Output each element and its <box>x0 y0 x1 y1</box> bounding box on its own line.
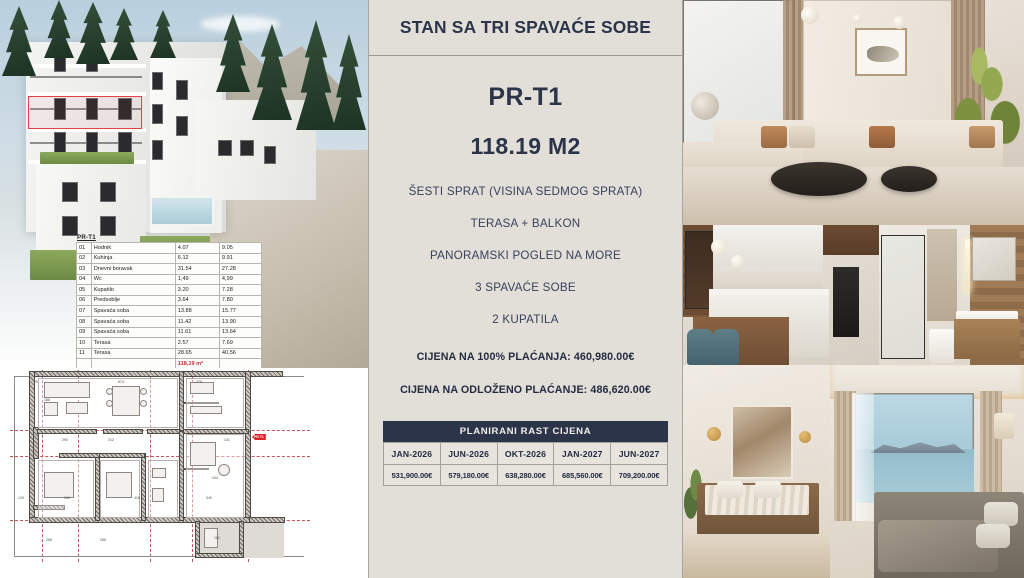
info-panel: STAN SA TRI SPAVAĆE SOBE PR-T1 118.19 M2… <box>368 0 683 578</box>
schedule-cell: 4.07 <box>175 243 219 254</box>
wall <box>196 554 243 557</box>
schedule-cell: 7.69 <box>219 338 261 349</box>
dimension-label: 110 <box>214 536 220 540</box>
table-row: 08Spavaća soba11.4213.90 <box>77 317 262 328</box>
schedule-cell: 10 <box>77 338 92 349</box>
wall <box>30 372 282 376</box>
schedule-cell: Spavaća soba <box>91 327 175 338</box>
table-row: JAN-2026JUN-2026OKT-2026JAN-2027JUN-2027 <box>384 443 668 465</box>
window <box>54 132 66 154</box>
furniture-armchair <box>44 402 58 416</box>
shower-enclosure <box>881 235 925 359</box>
growth-column-header: OKT-2026 <box>497 443 554 465</box>
growth-value-cell: 709,200.00€ <box>611 465 668 486</box>
pendant-light <box>711 239 727 255</box>
schedule-cell: 40.56 <box>219 348 261 359</box>
axis-line <box>10 456 310 457</box>
growth-value-cell: 531,900.00€ <box>384 465 441 486</box>
schedule-cell: 06 <box>77 295 92 306</box>
mirror <box>972 237 1016 281</box>
coffee-table <box>771 162 867 196</box>
window <box>264 146 276 164</box>
table-row: 11Terasa28.6540.56 <box>77 348 262 359</box>
window <box>54 56 66 72</box>
schedule-cell: 01 <box>77 243 92 254</box>
dimension-label: 340 <box>206 496 212 500</box>
vanity-unit <box>954 319 1020 359</box>
oven-column <box>833 267 859 337</box>
dimension-label: 20 <box>34 380 38 384</box>
wall <box>184 430 248 433</box>
page-title: STAN SA TRI SPAVAĆE SOBE <box>369 17 682 38</box>
photo-column <box>683 0 1024 578</box>
wall <box>246 372 250 522</box>
schedule-cell: Spavaća soba <box>91 306 175 317</box>
side-table <box>881 166 937 192</box>
toilet <box>929 329 955 363</box>
pillow <box>717 481 743 498</box>
window <box>240 140 254 156</box>
photo-bedroom-sea-view <box>830 365 1024 578</box>
dimension-label: 285 <box>100 538 106 542</box>
window <box>100 216 116 236</box>
unit-highlight-box <box>28 96 142 129</box>
schedule-cell: 07 <box>77 306 92 317</box>
table-row: 04Wc1,494,99 <box>77 274 262 285</box>
furniture-bed <box>106 472 132 498</box>
feature-item: ŠESTI SPRAT (VISINA SEDMOG SPRATA) <box>369 185 682 198</box>
price-growth-table: JAN-2026JUN-2026OKT-2026JAN-2027JUN-2027… <box>383 442 668 486</box>
dimension-line <box>14 376 15 556</box>
upper-cabinets <box>713 225 823 267</box>
feature-item: 2 KUPATILA <box>369 313 682 326</box>
furniture-bed <box>190 442 216 466</box>
schedule-cell: 11 <box>77 348 92 359</box>
table-row: 05Kupatilo3.207.28 <box>77 285 262 296</box>
dimension-label: 141 <box>224 438 230 442</box>
window <box>118 132 132 154</box>
cushion <box>969 126 995 148</box>
pillow <box>976 524 1010 548</box>
schedule-cell: Terasa <box>91 348 175 359</box>
photo-bedroom-main <box>683 365 830 578</box>
price-growth-body: 531,900.00€579,180.00€638,280.00€685,560… <box>384 465 668 486</box>
schedule-body: 01Hodnik4.079.0502Kuhinja6.129.9103Dnevn… <box>77 243 262 370</box>
furniture-bath-fixture <box>152 468 166 478</box>
listing-sheet: PR-T1 01Hodnik4.079.0502Kuhinja6.129.910… <box>0 0 1024 578</box>
window <box>62 216 78 236</box>
dimension-line <box>14 376 304 377</box>
pillow <box>984 502 1018 526</box>
schedule-cell: 11.42 <box>175 317 219 328</box>
floor-lamp <box>691 92 719 120</box>
schedule-cell: 4,99 <box>219 274 261 285</box>
price-growth-section: PLANIRANI RAST CIJENA JAN-2026JUN-2026OK… <box>383 421 668 486</box>
schedule-cell: 9.05 <box>219 243 261 254</box>
left-column: PR-T1 01Hodnik4.079.0502Kuhinja6.129.910… <box>0 0 368 578</box>
schedule-cell: 7.80 <box>219 295 261 306</box>
wall <box>100 454 144 457</box>
title-divider <box>369 55 682 56</box>
window <box>218 140 232 156</box>
dimension-label: 188 <box>44 398 50 402</box>
schedule-cell: Terasa <box>91 338 175 349</box>
dimension-label: 120 <box>18 496 24 500</box>
schedule-unit-tag: PR-T1 <box>76 234 262 241</box>
room-schedule: PR-T1 01Hodnik4.079.0502Kuhinja6.129.910… <box>76 234 262 370</box>
wall <box>96 454 99 520</box>
schedule-cell: Hodnik <box>91 243 175 254</box>
feature-item: PANORAMSKI POGLED NA MORE <box>369 249 682 262</box>
schedule-cell: 28.65 <box>175 348 219 359</box>
unit-code: PR-T1 <box>488 83 562 112</box>
cushion <box>869 126 895 148</box>
cushion <box>789 126 815 148</box>
wall <box>104 430 142 433</box>
schedule-cell: 03 <box>77 264 92 275</box>
furniture-kitchen-counter <box>190 382 214 394</box>
schedule-cell: 2.57 <box>175 338 219 349</box>
schedule-cell: Spavaća soba <box>91 317 175 328</box>
dimension-label: 265 <box>46 538 52 542</box>
table-row: 06Predsoblje3.647.80 <box>77 295 262 306</box>
growth-value-cell: 638,280.00€ <box>497 465 554 486</box>
schedule-cell: 13.64 <box>219 327 261 338</box>
schedule-cell: 1,49 <box>175 274 219 285</box>
furniture-bath-fixture <box>152 488 164 502</box>
table-row: 07Spavaća soba13.8815.77 <box>77 306 262 317</box>
schedule-cell: 13.88 <box>175 306 219 317</box>
schedule-cell: 13.90 <box>219 317 261 328</box>
tree <box>332 34 366 130</box>
schedule-cell: 08 <box>77 317 92 328</box>
dimension-label: 212 <box>108 438 114 442</box>
photo-living-room <box>683 0 1024 225</box>
window <box>100 182 116 202</box>
wall <box>60 454 100 457</box>
wall <box>250 518 284 522</box>
growth-column-header: JUN-2027 <box>611 443 668 465</box>
schedule-table: 01Hodnik4.079.0502Kuhinja6.129.9103Dnevn… <box>76 242 262 370</box>
tree <box>150 10 176 58</box>
tree <box>2 6 36 76</box>
schedule-cell: 9.91 <box>219 253 261 264</box>
window <box>152 140 163 160</box>
wall <box>180 372 183 430</box>
unit-flag: PR-T1 <box>252 434 266 440</box>
schedule-cell: 7.28 <box>219 285 261 296</box>
schedule-cell: Kuhinja <box>91 253 175 264</box>
price-item: CIJENA NA ODLOŽENO PLAĆANJE: 486,620.00€ <box>369 384 682 396</box>
table-row: 03Dnevni boravak31.5427.28 <box>77 264 262 275</box>
floor-plan-drawing: 674 276 20 290 212 188 120 342 418 340 1… <box>0 368 368 578</box>
window <box>86 132 98 154</box>
schedule-cell: 02 <box>77 253 92 264</box>
table-row: 01Hodnik4.079.05 <box>77 243 262 254</box>
furniture-chair <box>140 400 147 407</box>
furniture-kitchen-counter <box>190 406 222 414</box>
price-item: CIJENA NA 100% PLAĆANJA: 460,980.00€ <box>369 351 682 363</box>
schedule-cell: 3.20 <box>175 285 219 296</box>
furniture-fixture <box>218 464 230 476</box>
window <box>152 72 163 90</box>
window <box>62 182 78 202</box>
growth-value-cell: 685,560.00€ <box>554 465 611 486</box>
wall <box>142 454 145 520</box>
table-lamp <box>994 413 1014 439</box>
shelf-niche <box>927 229 957 321</box>
furniture-table <box>66 402 88 414</box>
window <box>176 116 188 136</box>
window <box>152 104 163 124</box>
dimension-label: 104 <box>212 476 218 480</box>
schedule-cell: 31.54 <box>175 264 219 275</box>
tree <box>110 8 138 60</box>
feature-list: ŠESTI SPRAT (VISINA SEDMOG SPRATA)TERASA… <box>369 185 682 345</box>
pendant-light <box>799 431 811 443</box>
unit-area: 118.19 M2 <box>470 133 580 160</box>
headboard-art <box>731 405 793 479</box>
schedule-cell: 3.64 <box>175 295 219 306</box>
schedule-cell: 6.12 <box>175 253 219 264</box>
wall <box>240 522 243 556</box>
led-strip-light <box>965 239 970 293</box>
schedule-cell: 27.28 <box>219 264 261 275</box>
floor <box>683 534 830 578</box>
bar-chair <box>713 329 739 365</box>
cushion <box>761 126 787 148</box>
wall <box>148 430 180 433</box>
price-growth-head-row: JAN-2026JUN-2026OKT-2026JAN-2027JUN-2027 <box>384 443 668 465</box>
price-list: CIJENA NA 100% PLAĆANJA: 460,980.00€CIJE… <box>369 351 682 417</box>
window <box>176 80 188 100</box>
swimming-pool <box>150 196 214 226</box>
floor-plan: 674 276 20 290 212 188 120 342 418 340 1… <box>0 368 368 578</box>
dimension-label: 418 <box>134 496 140 500</box>
wall <box>38 430 96 433</box>
table-row: 02Kuhinja6.129.91 <box>77 253 262 264</box>
furniture-sofa <box>44 382 90 398</box>
wall <box>196 522 199 556</box>
schedule-cell: 11.61 <box>175 327 219 338</box>
price-growth-heading: PLANIRANI RAST CIJENA <box>383 421 668 442</box>
dimension-label: 674 <box>118 380 124 384</box>
roof-garden <box>40 152 134 164</box>
growth-column-header: JAN-2026 <box>384 443 441 465</box>
balcony-rail <box>30 76 142 78</box>
cloud <box>200 16 280 32</box>
furniture-chair <box>106 388 113 395</box>
pendant-light <box>731 255 744 268</box>
schedule-cell: Dnevni boravak <box>91 264 175 275</box>
schedule-cell: Kupatilo <box>91 285 175 296</box>
pillow <box>755 481 781 498</box>
dimension-label: 342 <box>64 496 70 500</box>
feature-item: TERASA + BALKON <box>369 217 682 230</box>
wall <box>180 432 183 520</box>
table-row: 09Spavaća soba11.6113.64 <box>77 327 262 338</box>
sheer-curtain <box>852 393 874 521</box>
table-row: 10Terasa2.577.69 <box>77 338 262 349</box>
tree <box>44 0 74 58</box>
schedule-cell: Wc <box>91 274 175 285</box>
schedule-cell: Predsoblje <box>91 295 175 306</box>
bar-chair <box>687 329 713 365</box>
tree <box>76 2 110 64</box>
furniture-chair <box>140 388 147 395</box>
schedule-cell: 05 <box>77 285 92 296</box>
dimension-label: 276 <box>196 380 202 384</box>
furniture-bed <box>44 472 74 498</box>
growth-column-header: JAN-2027 <box>554 443 611 465</box>
photo-kitchen <box>683 225 879 365</box>
schedule-cell: 04 <box>77 274 92 285</box>
photo-bathroom <box>879 225 1024 365</box>
growth-column-header: JUN-2026 <box>440 443 497 465</box>
furniture-dining-table <box>112 386 140 416</box>
backsplash <box>713 267 823 289</box>
chandelier <box>801 4 911 30</box>
table-row: 531,900.00€579,180.00€638,280.00€685,560… <box>384 465 668 486</box>
wall-art <box>855 28 907 76</box>
furniture-chair <box>106 400 113 407</box>
pendant-light <box>707 427 721 441</box>
dimension-label: 290 <box>62 438 68 442</box>
wall <box>30 518 250 522</box>
feature-item: 3 SPAVAĆE SOBE <box>369 281 682 294</box>
growth-value-cell: 579,180.00€ <box>440 465 497 486</box>
schedule-cell: 09 <box>77 327 92 338</box>
schedule-cell: 15.77 <box>219 306 261 317</box>
